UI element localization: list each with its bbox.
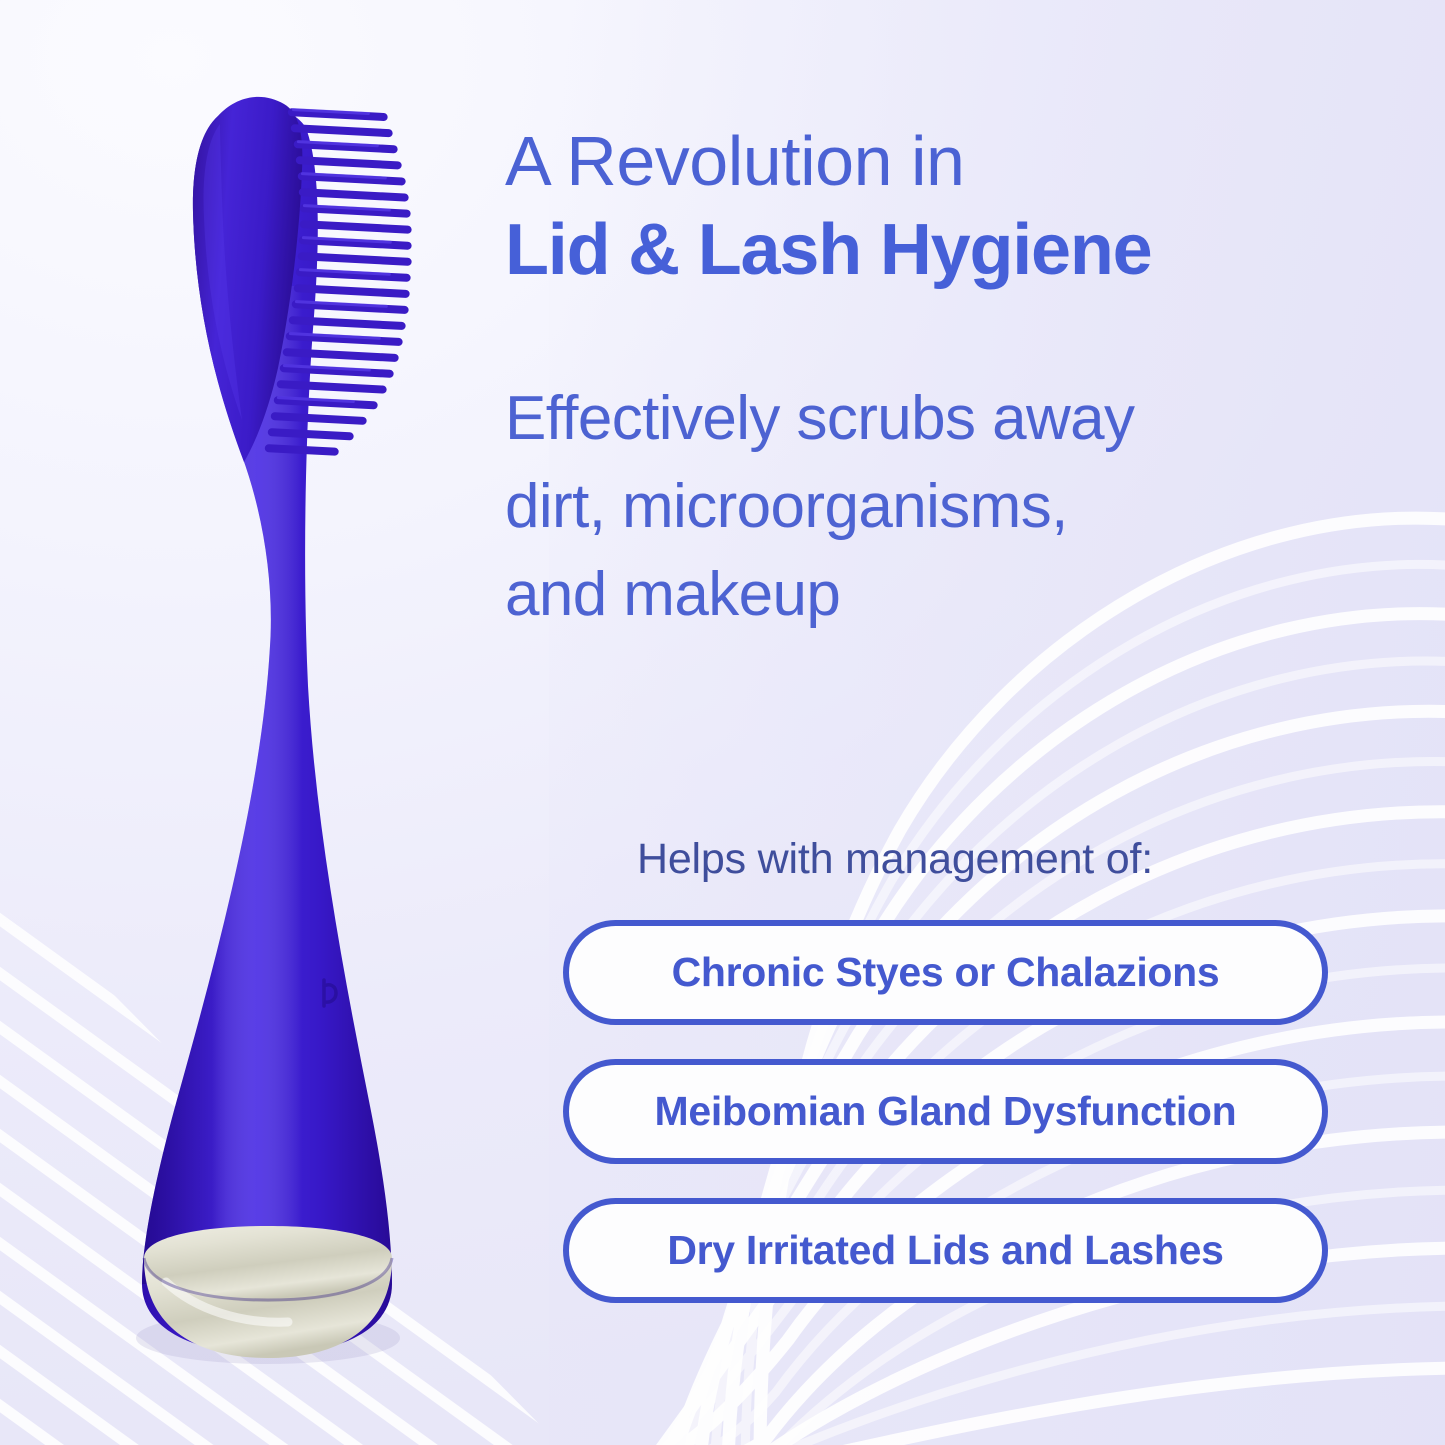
subheadline-line-3: and makeup: [505, 551, 1355, 639]
content-column: A Revolution in Lid & Lash Hygiene Effec…: [505, 0, 1385, 1445]
subheadline-block: Effectively scrubs away dirt, microorgan…: [505, 375, 1355, 639]
helps-with-management-label: Helps with management of:: [505, 832, 1285, 886]
headline-line-1: A Revolution in: [505, 118, 1375, 204]
subheadline-line-2: dirt, microorganisms,: [505, 463, 1355, 551]
condition-pill-meibomian-gland-dysfunction[interactable]: Meibomian Gland Dysfunction: [563, 1059, 1328, 1164]
condition-pill-dry-irritated-lids[interactable]: Dry Irritated Lids and Lashes: [563, 1198, 1328, 1303]
product-image: [92, 86, 492, 1376]
product-marketing-image: A Revolution in Lid & Lash Hygiene Effec…: [0, 0, 1445, 1445]
conditions-pill-list: Chronic Styes or Chalazions Meibomian Gl…: [563, 920, 1328, 1303]
headline-line-2: Lid & Lash Hygiene: [505, 204, 1375, 296]
condition-pill-chronic-styes[interactable]: Chronic Styes or Chalazions: [563, 920, 1328, 1025]
headline-block: A Revolution in Lid & Lash Hygiene: [505, 118, 1375, 296]
subheadline-line-1: Effectively scrubs away: [505, 375, 1355, 463]
